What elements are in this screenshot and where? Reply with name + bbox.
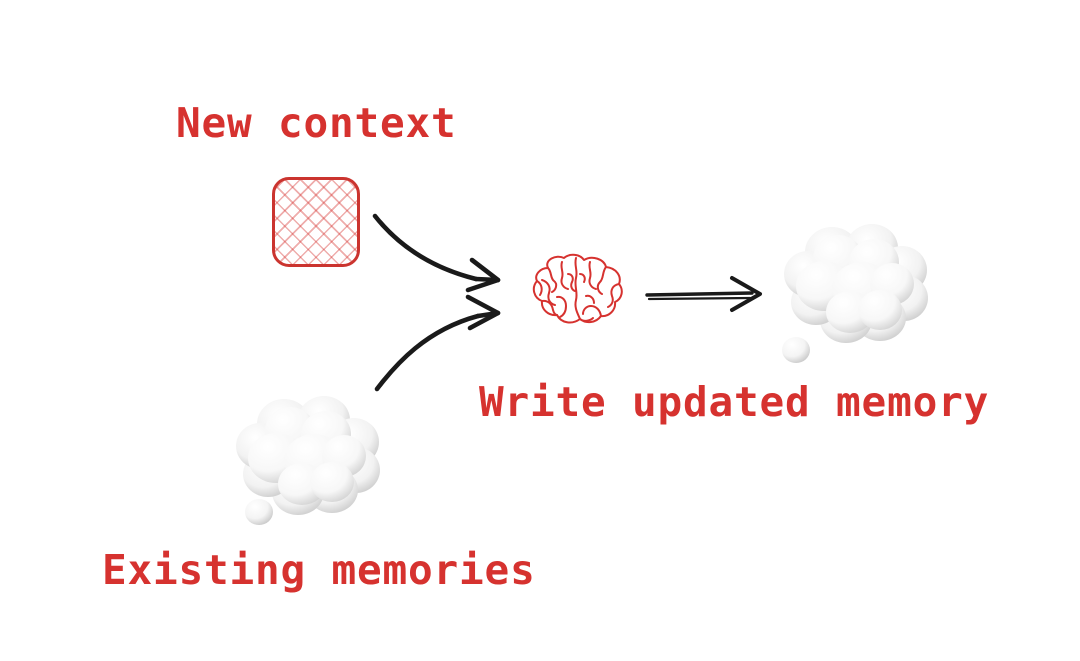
arrow-brain-to-memory-icon: [644, 268, 772, 320]
thought-balloon-icon-existing-memories: [232, 390, 392, 528]
brain-icon: [524, 252, 628, 332]
hatched-document-icon: [272, 177, 360, 267]
thought-balloon-icon-updated-memory: [778, 216, 938, 364]
label-existing-memories: Existing memories: [102, 550, 536, 591]
label-write-updated-memory: Write updated memory: [479, 382, 989, 423]
diagram-canvas: New context: [0, 0, 1080, 661]
label-new-context: New context: [176, 103, 457, 144]
